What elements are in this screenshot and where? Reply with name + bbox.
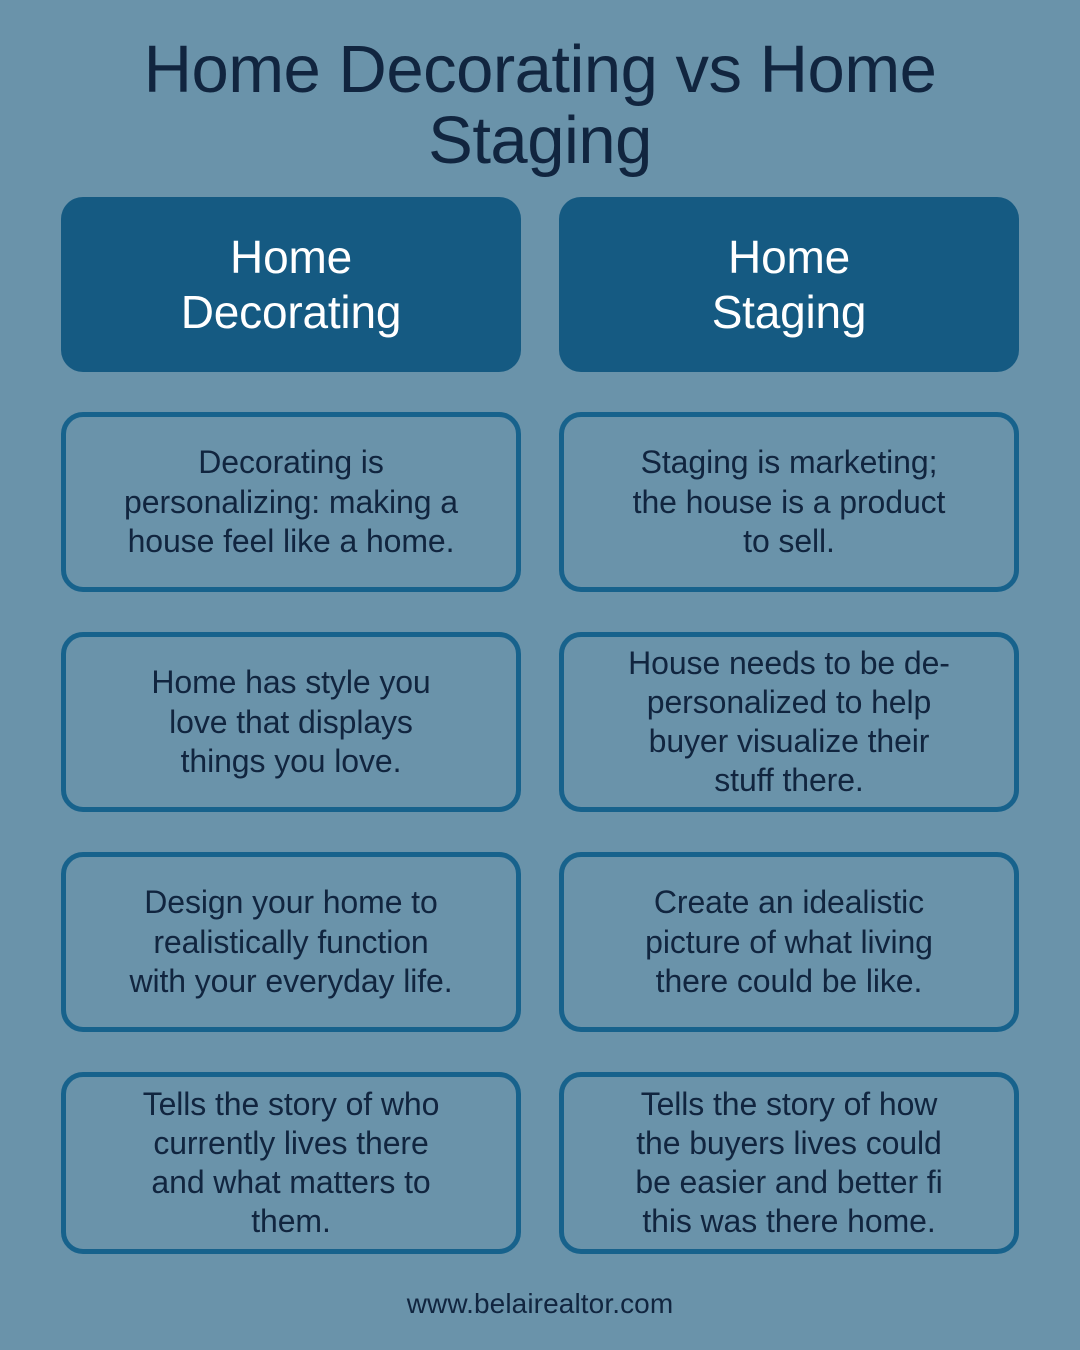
card-list-decorating: Decorating is personalizing: making a ho…	[61, 412, 521, 1254]
comparison-card-text: Decorating is personalizing: making a ho…	[124, 443, 458, 560]
comparison-card: Tells the story of how the buyers lives …	[559, 1072, 1019, 1254]
comparison-card: Create an idealistic picture of what liv…	[559, 852, 1019, 1032]
comparison-card: Tells the story of who currently lives t…	[61, 1072, 521, 1254]
page-title: Home Decorating vs Home Staging	[70, 34, 1010, 176]
comparison-card: Decorating is personalizing: making a ho…	[61, 412, 521, 592]
comparison-card: Staging is marketing; the house is a pro…	[559, 412, 1019, 592]
comparison-card-text: Staging is marketing; the house is a pro…	[633, 443, 946, 560]
column-header-card-decorating: Home Decorating	[61, 197, 521, 372]
comparison-card-text: House needs to be de- personalized to he…	[628, 644, 950, 800]
column-home-staging: Home Staging Staging is marketing; the h…	[559, 197, 1019, 1254]
column-header-label: Home Staging	[712, 230, 867, 339]
comparison-card: Home has style you love that displays th…	[61, 632, 521, 812]
column-header-label: Home Decorating	[181, 230, 401, 339]
column-home-decorating: Home Decorating Decorating is personaliz…	[61, 197, 521, 1254]
comparison-card: House needs to be de- personalized to he…	[559, 632, 1019, 812]
column-header-card-staging: Home Staging	[559, 197, 1019, 372]
comparison-card-text: Create an idealistic picture of what liv…	[645, 883, 933, 1000]
comparison-card-text: Tells the story of how the buyers lives …	[635, 1085, 942, 1241]
comparison-card-text: Design your home to realistically functi…	[129, 883, 452, 1000]
infographic-root: Home Decorating vs Home Staging Home Dec…	[0, 0, 1080, 1350]
website-url[interactable]: www.belairealtor.com	[407, 1288, 674, 1319]
comparison-columns: Home Decorating Decorating is personaliz…	[0, 197, 1080, 1254]
footer: www.belairealtor.com	[0, 1288, 1080, 1350]
comparison-card: Design your home to realistically functi…	[61, 852, 521, 1032]
title-block: Home Decorating vs Home Staging	[0, 0, 1080, 176]
comparison-card-text: Tells the story of who currently lives t…	[143, 1085, 440, 1241]
comparison-card-text: Home has style you love that displays th…	[151, 663, 430, 780]
card-list-staging: Staging is marketing; the house is a pro…	[559, 412, 1019, 1254]
